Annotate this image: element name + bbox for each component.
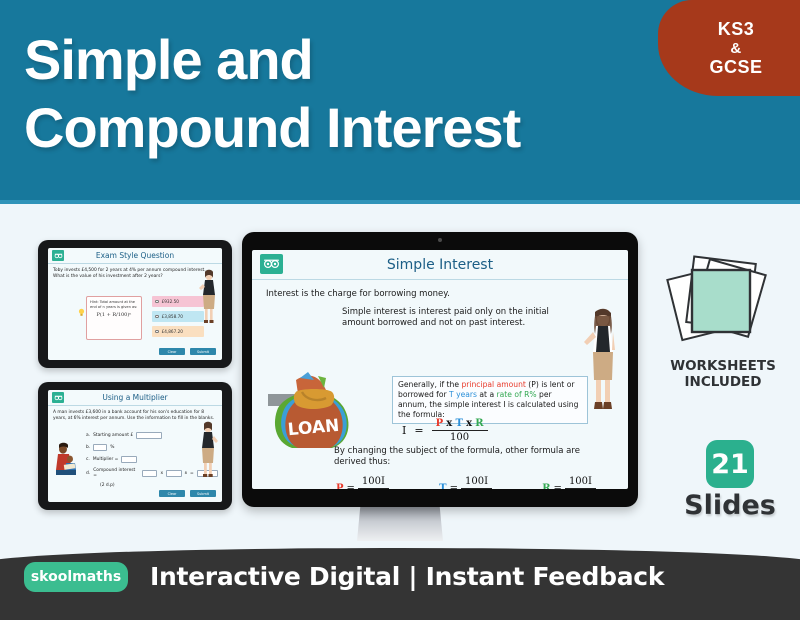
option-label-2: £3,858.70: [162, 314, 183, 319]
formula-num-r: R: [475, 418, 483, 429]
tablet-exam-title: Exam Style Question: [48, 248, 222, 264]
derived-t-fraction: 100I PR: [461, 476, 492, 489]
blank-d-input1[interactable]: [142, 470, 158, 477]
blank-d-times: x: [160, 471, 163, 476]
blank-a-label: Starting amount £: [93, 433, 133, 438]
derived-intro-text: By changing the subject of the formula, …: [334, 446, 584, 468]
derived-r-fraction: 100I PT: [565, 476, 596, 489]
webcam-icon: [438, 238, 442, 242]
slide-header: Simple Interest: [252, 250, 628, 280]
tablet-multiplier-header: Using a Multiplier: [48, 390, 222, 406]
option-label-3: £4,867.20: [162, 329, 183, 334]
submit-button[interactable]: Submit: [190, 348, 216, 355]
skoolmaths-owl-logo: [52, 250, 64, 261]
desktop-monitor: Simple Interest Interest is the charge f…: [242, 232, 638, 507]
page-title-line2: Compound Interest: [24, 94, 784, 162]
lightbulb-icon: [78, 304, 85, 313]
blank-a-input[interactable]: [136, 432, 162, 439]
tablet-multiplier-teacher-figure: [196, 420, 220, 478]
derived-r-num: 100I: [565, 476, 596, 489]
derived-p-num: 100I: [358, 476, 389, 489]
clear-button[interactable]: Clear: [159, 348, 185, 355]
key-stage-badge: KS3 & GCSE: [658, 0, 800, 96]
worksheets-label-line2: INCLUDED: [650, 374, 796, 390]
blank-c-input[interactable]: [121, 456, 137, 463]
formula-num-p: P: [436, 418, 444, 429]
derived-p-fraction: 100I TR: [358, 476, 389, 489]
badge-line-ks3: KS3: [718, 19, 755, 40]
derived-formula-p: P= 100I TR: [336, 476, 389, 489]
blank-d-input2[interactable]: [166, 470, 182, 477]
formula-numerator: P x T x R: [432, 418, 488, 431]
tablet-multiplier-question: A man invests £3,600 in a bank account f…: [53, 410, 217, 422]
tablet-exam-teacher-figure: [198, 268, 220, 324]
tablet-exam-options[interactable]: £932.50 £3,858.70 £4,867.20: [152, 296, 204, 341]
blank-b-letter: b.: [86, 445, 90, 450]
formula-denominator: 100: [450, 431, 469, 443]
slides-count-badge: 21: [706, 440, 754, 488]
derived-formulas: P= 100I TR T= 100I PR R= 100I: [336, 476, 596, 489]
option-radio-1[interactable]: [155, 300, 159, 304]
slide-intro-text: Interest is the charge for borrowing mon…: [266, 289, 620, 299]
derived-formula-t: T= 100I PR: [439, 476, 492, 489]
tablet-exam-style-question: Exam Style Question Toby invests £4,500 …: [38, 240, 232, 368]
clear-button[interactable]: Clear: [159, 490, 185, 497]
loan-money-bag-icon: LOAN: [266, 358, 362, 454]
monitor-screen: Simple Interest Interest is the charge f…: [252, 250, 628, 489]
simple-interest-formula: I = P x T x R 100: [402, 418, 488, 443]
tablet-exam-buttons[interactable]: Clear Submit: [159, 348, 216, 355]
formula-num-x1: x: [446, 418, 452, 429]
boxed-rate: rate of R%: [497, 390, 537, 399]
blank-d-letter: d.: [86, 471, 90, 476]
derived-t-num: 100I: [461, 476, 492, 489]
skoolmaths-owl-logo: [260, 254, 283, 274]
blank-d-label: Compound interest =: [93, 468, 139, 478]
badge-line-gcse: GCSE: [709, 57, 762, 78]
formula-equals: =: [414, 424, 423, 437]
slide-body: Interest is the charge for borrowing mon…: [252, 280, 628, 335]
boxed-part1: Generally, if the: [398, 380, 461, 389]
blank-b-input[interactable]: [93, 444, 107, 451]
footer-tagline: Interactive Digital | Instant Feedback: [150, 561, 664, 593]
tablet-exam-hint-text: Hint: Total amount at the end of n years…: [90, 300, 138, 309]
monitor-stand: [357, 505, 443, 541]
boxed-part3: at a: [477, 390, 497, 399]
blank-a-letter: a.: [86, 433, 90, 438]
slide-definition-text: Simple interest is interest paid only on…: [342, 307, 552, 329]
slide-title: Simple Interest: [252, 250, 628, 280]
worksheets-label-line1: WORKSHEETS: [650, 358, 796, 374]
derived-r-lhs: R: [542, 483, 550, 489]
blank-d-power: 8: [185, 471, 187, 475]
boxed-tyears: T years: [449, 390, 477, 399]
tablet-exam-hint-box: Hint: Total amount at the end of n years…: [86, 296, 142, 340]
option-choice-1[interactable]: £932.50: [152, 296, 204, 307]
tablet-exam-screen: Exam Style Question Toby invests £4,500 …: [48, 248, 222, 360]
parent-and-child-illustration: [54, 442, 80, 476]
tablet-exam-question: Toby invests £4,500 for 2 years at 4% pe…: [53, 268, 217, 280]
tablet-exam-header: Exam Style Question: [48, 248, 222, 264]
option-choice-3[interactable]: £4,867.20: [152, 326, 204, 337]
option-radio-3[interactable]: [155, 330, 159, 334]
page-header: Simple and Compound Interest KS3 & GCSE: [0, 0, 800, 204]
skoolmaths-brand-logo: skoolmaths: [24, 562, 128, 592]
badge-line-amp: &: [730, 40, 741, 57]
tablet-multiplier-buttons[interactable]: Clear Submit: [159, 490, 216, 497]
option-choice-2[interactable]: £3,858.70: [152, 311, 204, 322]
slides-count-number: 21: [711, 449, 749, 480]
slides-word-label: Slides: [680, 490, 780, 521]
option-label-1: £932.50: [162, 299, 179, 304]
skoolmaths-owl-logo: [52, 392, 64, 403]
derived-t-lhs: T: [439, 483, 446, 489]
blank-d-equals: =: [190, 471, 194, 476]
boxed-principal: principal amount: [461, 380, 525, 389]
blank-c-label: Multiplier =: [93, 457, 119, 462]
submit-button[interactable]: Submit: [190, 490, 216, 497]
formula-num-x2: x: [466, 418, 472, 429]
brand-logo-text: skoolmaths: [31, 569, 121, 585]
formula-fraction: P x T x R 100: [432, 418, 488, 443]
formula-lhs: I: [402, 424, 406, 437]
blank-c-letter: c.: [86, 457, 90, 462]
teacher-figure-illustration: [582, 302, 624, 414]
derived-p-lhs: P: [336, 483, 344, 489]
tablet-multiplier-title: Using a Multiplier: [48, 390, 222, 406]
tablet-using-a-multiplier: Using a Multiplier A man invests £3,600 …: [38, 382, 232, 510]
derived-formula-r: R= 100I PT: [542, 476, 596, 489]
formula-num-t: T: [455, 418, 462, 429]
option-radio-2[interactable]: [155, 315, 159, 319]
tablet-multiplier-note: (2 d.p): [100, 483, 218, 488]
slide-boxed-statement: Generally, if the principal amount (P) i…: [392, 376, 588, 424]
tablet-multiplier-screen: Using a Multiplier A man invests £3,600 …: [48, 390, 222, 502]
tablet-exam-hint-formula: P(1 + R/100)ⁿ: [90, 313, 138, 318]
page-footer: skoolmaths Interactive Digital | Instant…: [0, 548, 800, 620]
stacked-papers-icon: [664, 246, 780, 346]
blank-b-label: %: [110, 445, 114, 450]
worksheets-included-label: WORKSHEETS INCLUDED: [650, 358, 796, 390]
